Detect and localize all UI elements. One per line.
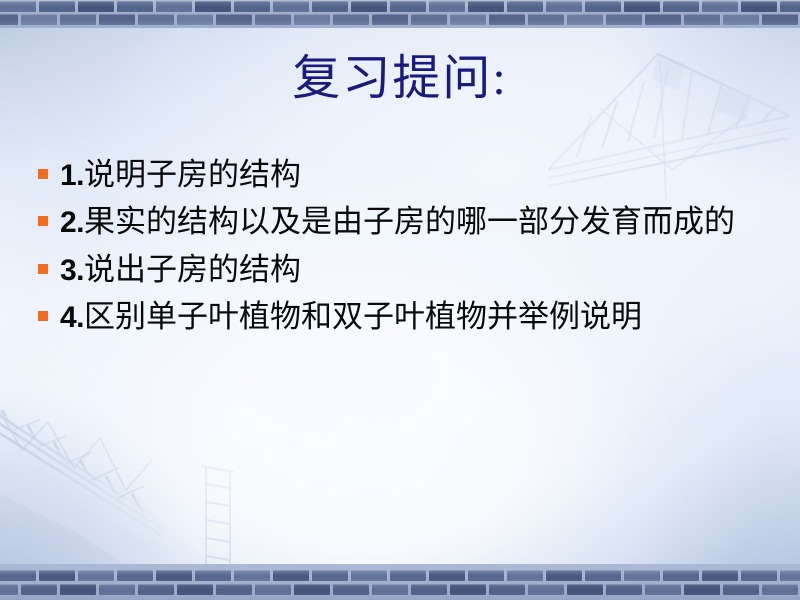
- list-item-number: 2.: [60, 206, 84, 239]
- list-item: 2.果实的结构以及是由子房的哪一部分发育而成的: [30, 202, 782, 242]
- square-bullet-icon: [38, 311, 48, 321]
- presentation-slide: 复习提问: 1.说明子房的结构 2.果实的结构以及是由子房的哪一部分发育而成的 …: [0, 0, 800, 600]
- slide-content: 复习提问: 1.说明子房的结构 2.果实的结构以及是由子房的哪一部分发育而成的 …: [0, 0, 800, 600]
- list-item: 3.说出子房的结构: [30, 250, 782, 290]
- list-item: 1.说明子房的结构: [30, 155, 782, 195]
- list-item-text: 说明子房的结构: [84, 157, 301, 192]
- list-item-text: 区别单子叶植物和双子叶植物并举例说明: [84, 299, 642, 334]
- page-title: 复习提问:: [0, 52, 800, 106]
- question-list: 1.说明子房的结构 2.果实的结构以及是由子房的哪一部分发育而成的 3.说出子房…: [30, 155, 782, 344]
- list-item-number: 3.: [60, 254, 84, 287]
- list-item: 4.区别单子叶植物和双子叶植物并举例说明: [30, 297, 782, 337]
- list-item-number: 4.: [60, 301, 84, 334]
- square-bullet-icon: [38, 216, 48, 226]
- list-item-number: 1.: [60, 159, 84, 192]
- list-item-text: 说出子房的结构: [84, 252, 301, 287]
- square-bullet-icon: [38, 264, 48, 274]
- square-bullet-icon: [38, 169, 48, 179]
- list-item-text: 果实的结构以及是由子房的哪一部分发育而成的: [84, 204, 735, 239]
